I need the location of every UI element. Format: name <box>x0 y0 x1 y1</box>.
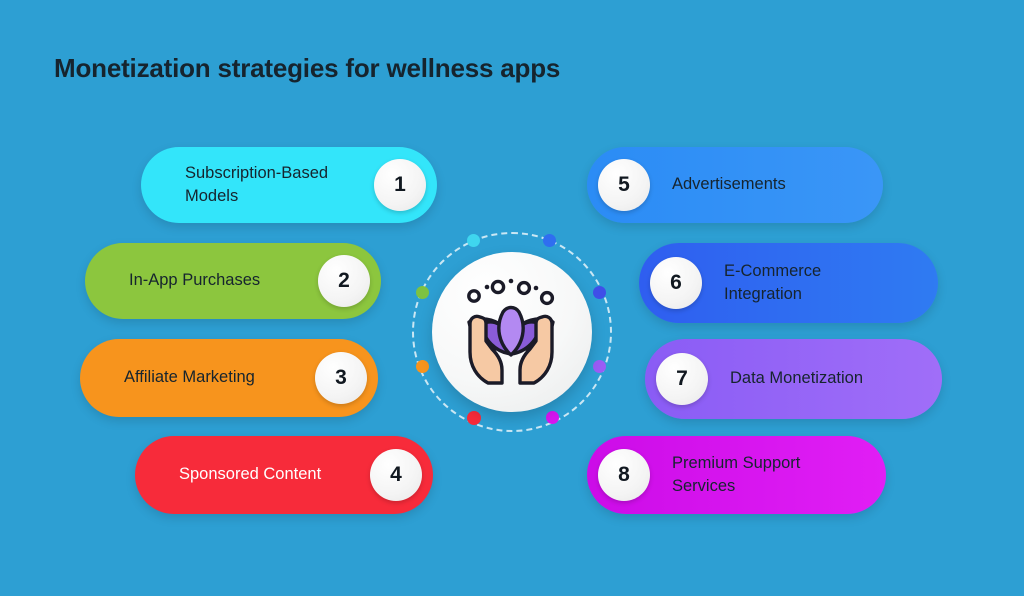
dot-orange-icon <box>416 360 429 373</box>
dot-red-icon <box>467 411 481 425</box>
strategy-number-4: 4 <box>370 449 422 501</box>
strategy-item-5[interactable]: 5 Advertisements <box>587 147 883 223</box>
dot-purple-icon <box>593 360 606 373</box>
strategy-number-1: 1 <box>374 159 426 211</box>
strategy-label-5: Advertisements <box>650 173 839 196</box>
strategy-label-8: Premium Support Services <box>650 452 842 499</box>
strategy-number-8: 8 <box>598 449 650 501</box>
strategy-label-2: In-App Purchases <box>129 269 318 292</box>
strategy-item-1[interactable]: Subscription-Based Models 1 <box>141 147 437 223</box>
strategy-item-6[interactable]: 6 E-Commerce Integration <box>639 243 938 323</box>
strategy-label-1: Subscription-Based Models <box>185 162 374 209</box>
strategy-item-7[interactable]: 7 Data Monetization <box>645 339 942 419</box>
strategy-number-2: 2 <box>318 255 370 307</box>
center-disc <box>432 252 592 412</box>
hands-holding-lotus-icon <box>450 274 574 390</box>
center-medallion <box>412 232 612 432</box>
strategy-item-8[interactable]: 8 Premium Support Services <box>587 436 886 514</box>
dot-magenta-icon <box>546 411 559 424</box>
strategy-label-6: E-Commerce Integration <box>702 260 894 307</box>
strategy-label-3: Affiliate Marketing <box>124 366 315 389</box>
strategy-label-7: Data Monetization <box>708 367 898 390</box>
dot-cyan-icon <box>467 234 480 247</box>
dot-blue-violet-icon <box>593 286 606 299</box>
strategy-number-7: 7 <box>656 353 708 405</box>
page-title: Monetization strategies for wellness app… <box>54 53 560 84</box>
strategy-item-3[interactable]: Affiliate Marketing 3 <box>80 339 378 417</box>
strategy-item-4[interactable]: Sponsored Content 4 <box>135 436 433 514</box>
strategy-number-6: 6 <box>650 257 702 309</box>
strategy-number-3: 3 <box>315 352 367 404</box>
strategy-label-4: Sponsored Content <box>179 463 370 486</box>
dot-blue-icon <box>543 234 556 247</box>
strategy-number-5: 5 <box>598 159 650 211</box>
dot-green-icon <box>416 286 429 299</box>
strategy-item-2[interactable]: In-App Purchases 2 <box>85 243 381 319</box>
